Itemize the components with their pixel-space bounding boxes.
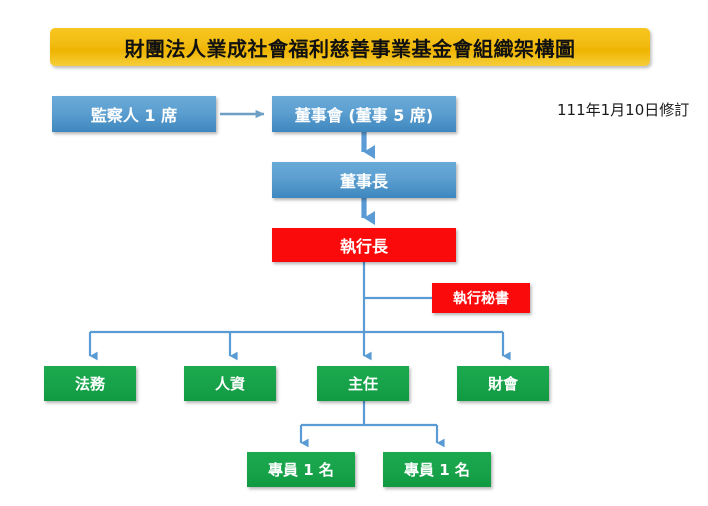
node-legal-affairs-label: 法務 [75, 373, 105, 394]
node-executive-secretary-label: 執行秘書 [453, 288, 509, 308]
node-staff-member-1-label: 專員 1 名 [268, 459, 334, 480]
node-finance-accounting-label: 財會 [488, 373, 518, 394]
node-human-resources-label: 人資 [215, 373, 245, 394]
node-chief-executive-label: 執行長 [340, 233, 388, 257]
node-chairman[interactable]: 董事長 [272, 162, 456, 198]
node-executive-secretary[interactable]: 執行秘書 [432, 283, 530, 313]
node-board-of-directors[interactable]: 董事會 (董事 5 席) [272, 96, 456, 132]
node-legal-affairs[interactable]: 法務 [44, 366, 136, 401]
node-chairman-label: 董事長 [340, 168, 388, 192]
node-board-of-directors-label: 董事會 (董事 5 席) [295, 102, 433, 126]
node-human-resources[interactable]: 人資 [184, 366, 276, 401]
node-finance-accounting[interactable]: 財會 [457, 366, 549, 401]
node-supervisor[interactable]: 監察人 1 席 [52, 96, 216, 132]
org-chart-canvas: 財團法人業成社會福利慈善事業基金會組織架構圖 111年1月10日修訂 [0, 0, 708, 506]
node-director-label: 主任 [348, 373, 378, 394]
node-supervisor-label: 監察人 1 席 [91, 102, 177, 126]
node-staff-member-2-label: 專員 1 名 [404, 459, 470, 480]
node-director[interactable]: 主任 [317, 366, 409, 401]
node-chief-executive[interactable]: 執行長 [272, 228, 456, 262]
node-staff-member-1[interactable]: 專員 1 名 [247, 452, 355, 487]
node-staff-member-2[interactable]: 專員 1 名 [383, 452, 491, 487]
